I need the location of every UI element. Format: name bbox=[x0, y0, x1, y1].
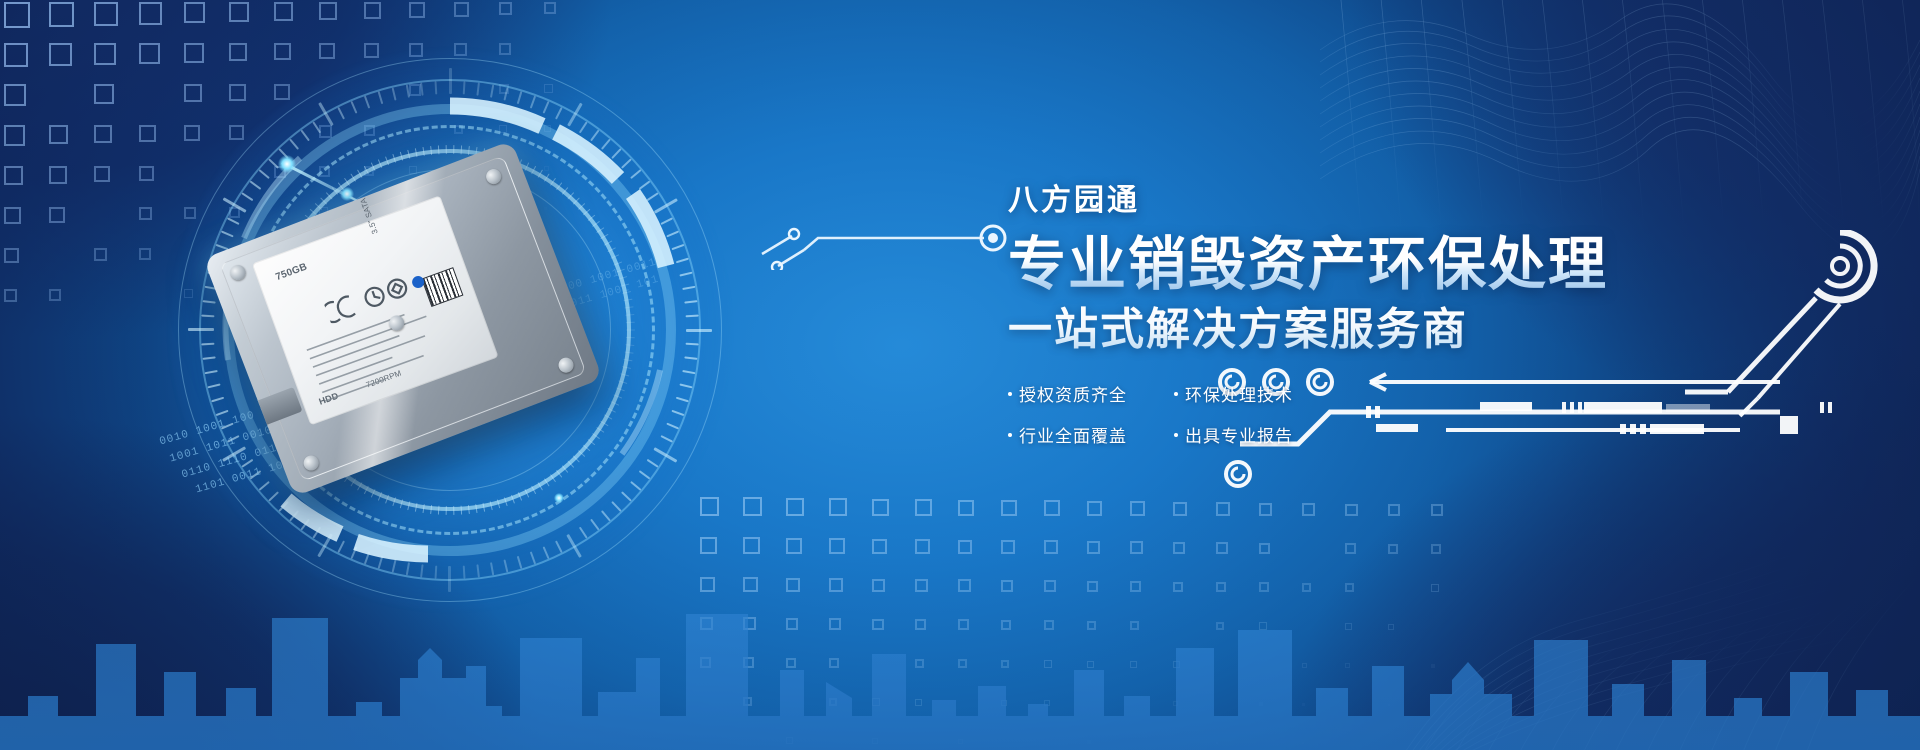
feature-item-2: 环保处理技术 bbox=[1174, 381, 1318, 406]
bullet-dot-icon bbox=[1008, 433, 1012, 437]
bullet-dot-icon bbox=[1174, 392, 1178, 396]
headline-title: 专业销毁资产环保处理 bbox=[1008, 234, 1728, 297]
feature-label: 授权资质齐全 bbox=[1019, 381, 1127, 406]
promotional-banner: 0010 1001 100 1001 1011 0010 0110 1110 0… bbox=[0, 0, 1920, 750]
feature-item-3: 行业全面覆盖 bbox=[1008, 422, 1152, 447]
feature-label: 出具专业报告 bbox=[1185, 422, 1293, 447]
bullet-dot-icon bbox=[1174, 433, 1178, 437]
brand-name: 八方园通 bbox=[1008, 186, 1728, 216]
feature-label: 行业全面覆盖 bbox=[1019, 422, 1127, 447]
feature-list: 授权资质齐全 环保处理技术 行业全面覆盖 出具专业报告 bbox=[1008, 381, 1338, 447]
feature-item-1: 授权资质齐全 bbox=[1008, 381, 1152, 406]
sub-headline: 一站式解决方案服务商 bbox=[1008, 305, 1728, 356]
feature-item-4: 出具专业报告 bbox=[1174, 422, 1318, 447]
feature-label: 环保处理技术 bbox=[1185, 381, 1293, 406]
banner-copy-block: 八方园通 专业销毁资产环保处理 一站式解决方案服务商 授权资质齐全 环保处理技术… bbox=[1008, 186, 1728, 447]
bullet-dot-icon bbox=[1008, 392, 1012, 396]
